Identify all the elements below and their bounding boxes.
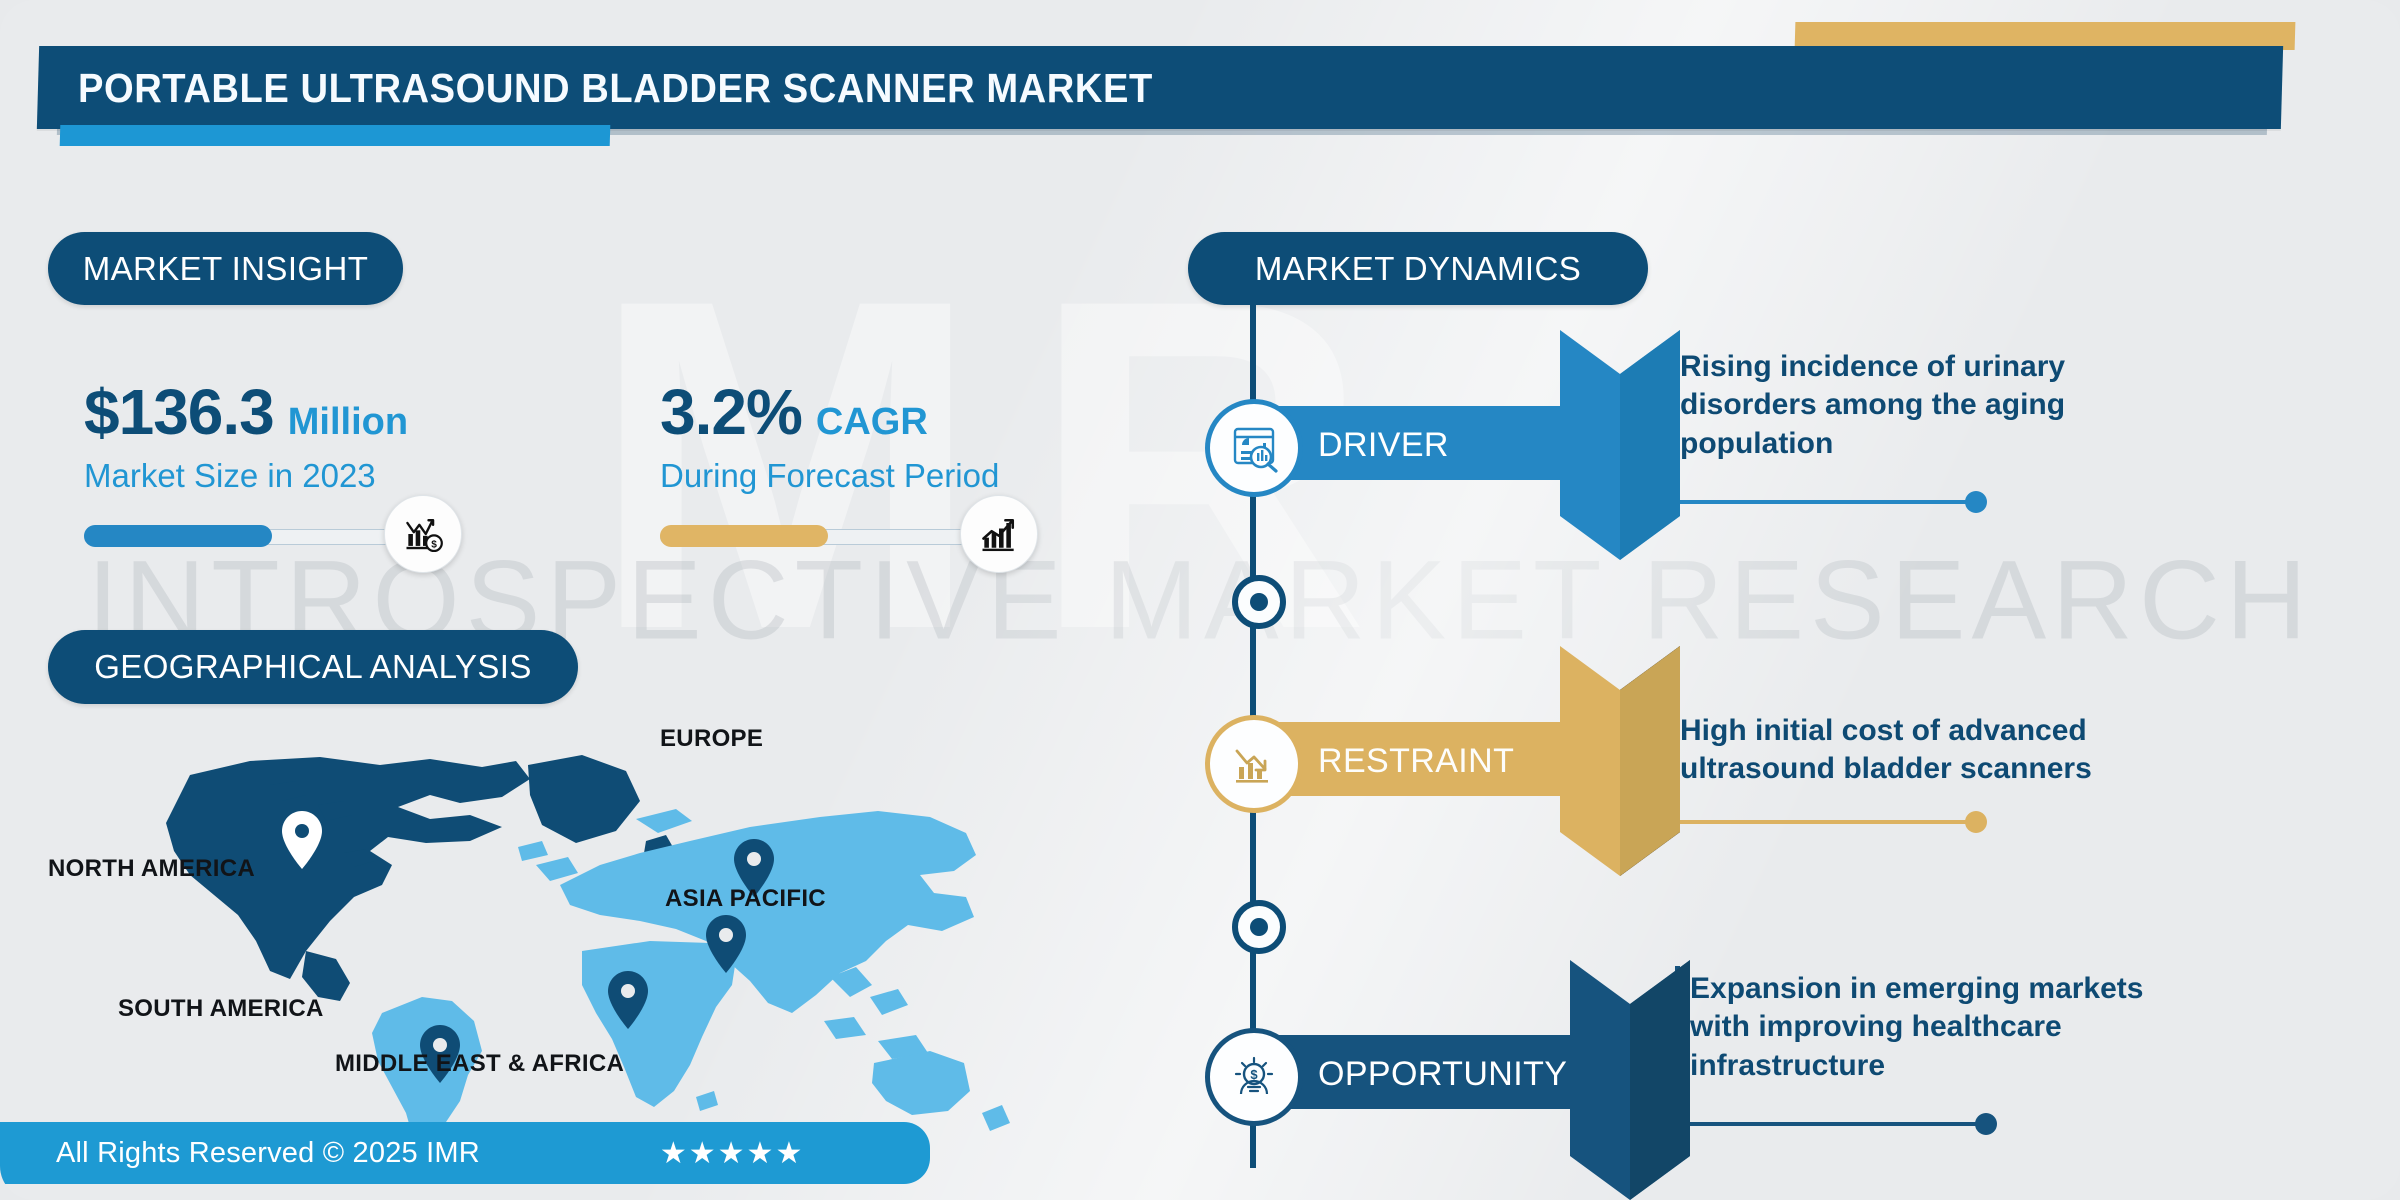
timeline-node-1	[1232, 575, 1286, 629]
header-blue-underbar	[60, 125, 611, 146]
driver-description: Rising incidence of urinary disorders am…	[1680, 348, 2200, 463]
bar-chart-dollar-icon: $	[384, 495, 462, 573]
timeline-node-2	[1232, 900, 1286, 954]
world-map: NORTH AMERICA SOUTH AMERICA MIDDLE EAST …	[130, 745, 1060, 1175]
bar-fill	[660, 525, 828, 547]
opportunity-chevron	[1570, 960, 1690, 1200]
market-insight-pill: MARKET INSIGHT	[48, 232, 403, 305]
svg-text:$: $	[1250, 1067, 1258, 1082]
driver-desc-rule	[1665, 500, 1980, 504]
restraint-chevron	[1560, 646, 1680, 881]
declining-chart-icon	[1205, 715, 1303, 813]
map-label-asia-pacific: ASIA PACIFIC	[665, 885, 826, 913]
footer-stars: ★★★★★	[660, 1136, 804, 1171]
map-label-north-america: NORTH AMERICA	[48, 855, 255, 883]
svg-text:$: $	[431, 539, 437, 550]
stat-market-size-bar: $	[84, 521, 444, 551]
restraint-label: RESTRAINT	[1318, 742, 1514, 781]
lightbulb-dollar-icon: $	[1205, 1028, 1303, 1126]
footer-copyright: All Rights Reserved © 2025 IMR	[56, 1137, 480, 1170]
map-label-south-america: SOUTH AMERICA	[118, 995, 324, 1023]
driver-label: DRIVER	[1318, 426, 1449, 465]
stat-cagr-value: 3.2%	[660, 375, 802, 449]
world-map-svg	[130, 745, 1060, 1145]
stat-cagr: 3.2% CAGR During Forecast Period	[660, 375, 1020, 551]
restraint-desc-knob	[1965, 811, 1987, 833]
opportunity-description: Expansion in emerging markets with impro…	[1690, 970, 2210, 1085]
market-dynamics-pill: MARKET DYNAMICS	[1188, 232, 1648, 305]
restraint-desc-rule	[1665, 820, 1980, 824]
restraint-description: High initial cost of advanced ultrasound…	[1680, 712, 2200, 789]
stat-cagr-row: 3.2% CAGR	[660, 375, 1020, 449]
stat-cagr-sublabel: During Forecast Period	[660, 457, 1020, 495]
geographical-analysis-label: GEOGRAPHICAL ANALYSIS	[94, 648, 532, 686]
stat-market-size-sublabel: Market Size in 2023	[84, 457, 444, 495]
infographic-canvas: M R INTROSPECTIVE MARKET RESEARCH PORTAB…	[0, 0, 2400, 1200]
map-label-europe: EUROPE	[660, 725, 763, 753]
opportunity-label: OPPORTUNITY	[1318, 1055, 1567, 1094]
report-search-icon	[1205, 399, 1303, 497]
opportunity-desc-rule	[1675, 1122, 1990, 1126]
bar-fill	[84, 525, 272, 547]
driver-chevron	[1560, 330, 1680, 565]
stat-cagr-bar	[660, 521, 1020, 551]
market-dynamics-label: MARKET DYNAMICS	[1255, 250, 1581, 288]
page-title: PORTABLE ULTRASOUND BLADDER SCANNER MARK…	[78, 56, 2105, 120]
stat-market-size-row: $136.3 Million	[84, 375, 444, 449]
market-insight-label: MARKET INSIGHT	[83, 250, 369, 288]
map-label-middle-east-africa: MIDDLE EAST & AFRICA	[335, 1050, 624, 1078]
stat-market-size-value: $136.3	[84, 375, 274, 449]
stat-market-size-unit: Million	[288, 401, 408, 444]
geographical-analysis-pill: GEOGRAPHICAL ANALYSIS	[48, 630, 578, 704]
driver-desc-knob	[1965, 491, 1987, 513]
growth-arrow-icon	[960, 495, 1038, 573]
footer-bar: All Rights Reserved © 2025 IMR ★★★★★	[0, 1122, 930, 1184]
stat-market-size: $136.3 Million Market Size in 2023 $	[84, 375, 444, 551]
stat-cagr-unit: CAGR	[816, 401, 928, 444]
opportunity-desc-knob	[1975, 1113, 1997, 1135]
